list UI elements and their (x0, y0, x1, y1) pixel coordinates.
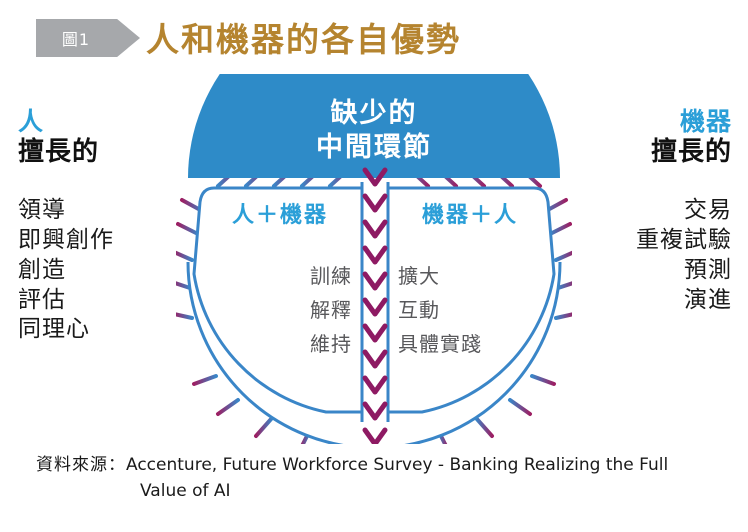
list-item: 交易 (550, 195, 732, 225)
list-item: 創造 (18, 255, 198, 285)
list-item: 預測 (550, 255, 732, 285)
list-item: 同理心 (18, 314, 198, 344)
column-heading-machine-human: 機器＋人 (422, 202, 518, 227)
page-title: 人和機器的各自優勢 (146, 13, 461, 61)
missing-middle-diagram: 缺少的 中間環節 人＋機器 機器＋人 訓練 解釋 維持 (176, 74, 572, 444)
source-line-1: Accenture, Future Workforce Survey - Ban… (126, 455, 668, 475)
column-item: 維持 (310, 333, 352, 356)
list-item: 重複試驗 (550, 225, 732, 255)
column-heading-human-machine: 人＋機器 (232, 202, 328, 227)
machine-panel-subtitle: 擅長的 (550, 137, 732, 167)
source-note: 資料來源：Accenture, Future Workforce Survey … (36, 452, 726, 504)
machine-panel-accent: 機器 (550, 108, 732, 136)
machine-strengths-list: 交易 重複試驗 預測 演進 (550, 195, 732, 315)
column-item: 解釋 (310, 299, 352, 322)
column-item: 具體實踐 (398, 333, 482, 356)
figure-badge: 圖1 (36, 19, 140, 57)
list-item: 評估 (18, 285, 198, 315)
source-label: 資料來源： (36, 455, 126, 474)
machine-strengths-panel: 機器 擅長的 交易 重複試驗 預測 演進 (550, 108, 732, 314)
column-item: 訓練 (310, 265, 352, 288)
dome-line-1: 缺少的 (331, 97, 418, 129)
source-line-2: Value of AI (140, 479, 726, 505)
dome-line-2: 中間環節 (316, 131, 432, 163)
figure-badge-label: 圖1 (36, 19, 116, 57)
human-strengths-list: 領導 即興創作 創造 評估 同理心 (18, 195, 198, 344)
human-panel-accent: 人 (18, 108, 198, 136)
list-item: 領導 (18, 195, 198, 225)
human-panel-subtitle: 擅長的 (18, 137, 198, 167)
column-item: 擴大 (398, 265, 440, 288)
header: 圖1 人和機器的各自優勢 (0, 0, 748, 74)
column-item: 互動 (398, 299, 440, 322)
list-item: 即興創作 (18, 225, 198, 255)
list-item: 演進 (550, 285, 732, 315)
human-strengths-panel: 人 擅長的 領導 即興創作 創造 評估 同理心 (18, 108, 198, 344)
